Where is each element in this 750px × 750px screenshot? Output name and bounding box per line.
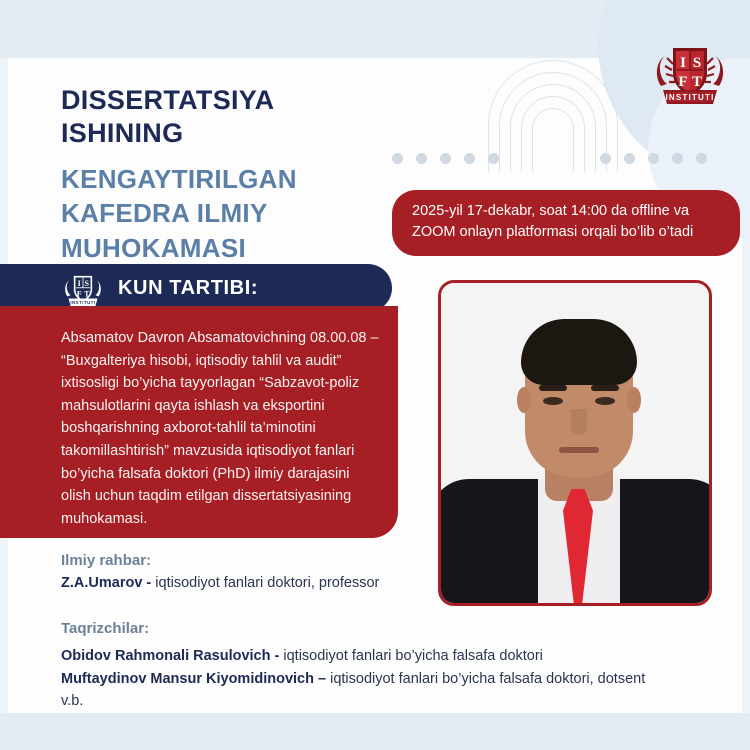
dot [648, 153, 659, 164]
reviewer-name: Obidov Rahmonali Rasulovich [61, 648, 270, 664]
agenda-body-text: Absamatov Davron Absamatovichning 08.00.… [61, 327, 379, 530]
svg-text:T: T [84, 289, 90, 298]
isft-institute-logo-small: I S F T INSTITUTI [62, 271, 104, 311]
poster-canvas: I S F T INSTITUTI DISSERTATSIYA ISHINING… [0, 0, 750, 750]
subtitle-line-2: KAFEDRA ILMIY [61, 196, 391, 231]
supervisor-name: Z.A.Umarov [61, 575, 142, 591]
svg-text:T: T [692, 74, 702, 90]
reviewers-label: Taqrizchilar: [61, 620, 149, 637]
dot [440, 153, 451, 164]
svg-text:S: S [693, 55, 701, 71]
dot [392, 153, 403, 164]
svg-text:S: S [85, 279, 90, 288]
presenter-photo [438, 280, 712, 606]
svg-text:INSTITUTI: INSTITUTI [70, 300, 95, 305]
dot-row-left [392, 153, 499, 164]
title-line-2: ISHINING [61, 117, 391, 150]
subtitle-line-1: KENGAYTIRILGAN [61, 162, 391, 197]
event-date-line-2: ZOOM onlayn platformasi orqali bo’lib o’… [412, 222, 720, 243]
list-item: Muftaydinov Mansur Kiyomidinovich – iqti… [61, 668, 661, 713]
dot [464, 153, 475, 164]
svg-text:F: F [678, 74, 687, 90]
bottom-band [0, 713, 750, 750]
reviewers-list: Obidov Rahmonali Rasulovich - iqtisodiyo… [61, 645, 661, 713]
svg-text:I: I [680, 55, 686, 71]
svg-text:INSTITUTI: INSTITUTI [665, 93, 714, 102]
svg-text:I: I [78, 279, 81, 288]
reviewer-separator: – [314, 671, 330, 687]
reviewer-name: Muftaydinov Mansur Kiyomidinovich [61, 671, 314, 687]
page-title: DISSERTATSIYA ISHINING KENGAYTIRILGAN KA… [61, 84, 391, 266]
event-date-line-1: 2025-yil 17-dekabr, soat 14:00 da offlin… [412, 201, 720, 222]
supervisor-entry: Z.A.Umarov - iqtisodiyot fanlari doktori… [61, 573, 401, 594]
dot [416, 153, 427, 164]
reviewer-separator: - [270, 648, 283, 664]
list-item: Obidov Rahmonali Rasulovich - iqtisodiyo… [61, 645, 661, 668]
supervisor-label: Ilmiy rahbar: [61, 552, 151, 569]
arch-line-5 [532, 108, 574, 172]
event-date-banner: 2025-yil 17-dekabr, soat 14:00 da offlin… [392, 190, 740, 256]
supervisor-description: iqtisodiyot fanlari doktori, professor [155, 575, 379, 591]
isft-institute-logo: I S F T INSTITUTI [651, 40, 729, 112]
dot [696, 153, 707, 164]
subtitle-line-3: MUHOKAMASI [61, 231, 391, 266]
svg-text:F: F [77, 289, 82, 298]
dot [488, 153, 499, 164]
title-line-1: DISSERTATSIYA [61, 84, 391, 117]
dot-row-right [600, 153, 707, 164]
dot [624, 153, 635, 164]
dot [672, 153, 683, 164]
arch-pattern-decoration [488, 60, 618, 172]
dot [600, 153, 611, 164]
supervisor-separator: - [142, 575, 155, 591]
reviewer-description: iqtisodiyot fanlari bo’yicha falsafa dok… [283, 648, 543, 664]
agenda-header-label: KUN TARTIBI: [118, 277, 258, 300]
